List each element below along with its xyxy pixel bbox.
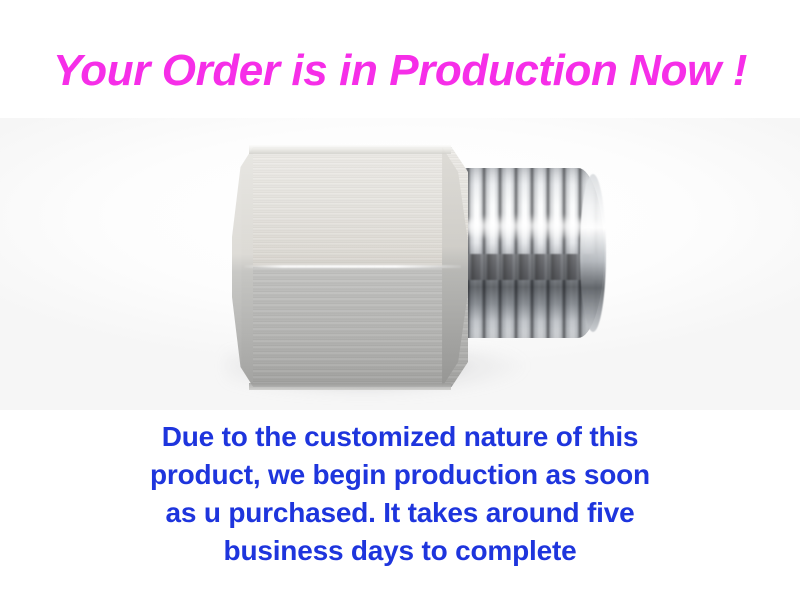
notice-line: as u purchased. It takes around five bbox=[0, 494, 800, 532]
thread-end-cap bbox=[580, 174, 606, 332]
product-photo bbox=[0, 118, 800, 410]
notice-line: product, we begin production as soon bbox=[0, 456, 800, 494]
notice-line: Due to the customized nature of this bbox=[0, 418, 800, 456]
notice-line: business days to complete bbox=[0, 532, 800, 570]
hex-bottom-bevel bbox=[249, 383, 452, 390]
page-title: Your Order is in Production Now ! bbox=[0, 46, 800, 95]
hex-flat-edge-highlight bbox=[244, 265, 461, 268]
production-notice-text: Due to the customized nature of this pro… bbox=[0, 418, 800, 570]
hex-lower-flat-brushing bbox=[232, 267, 468, 392]
hex-nut-body bbox=[232, 142, 468, 392]
hex-top-bevel bbox=[249, 145, 452, 154]
hex-upper-flat-brushing bbox=[232, 142, 468, 267]
promo-banner: Your Order is in Production Now ! Due to… bbox=[0, 0, 800, 600]
thread-root-shadow bbox=[456, 254, 598, 280]
male-threaded-nipple bbox=[452, 168, 604, 338]
